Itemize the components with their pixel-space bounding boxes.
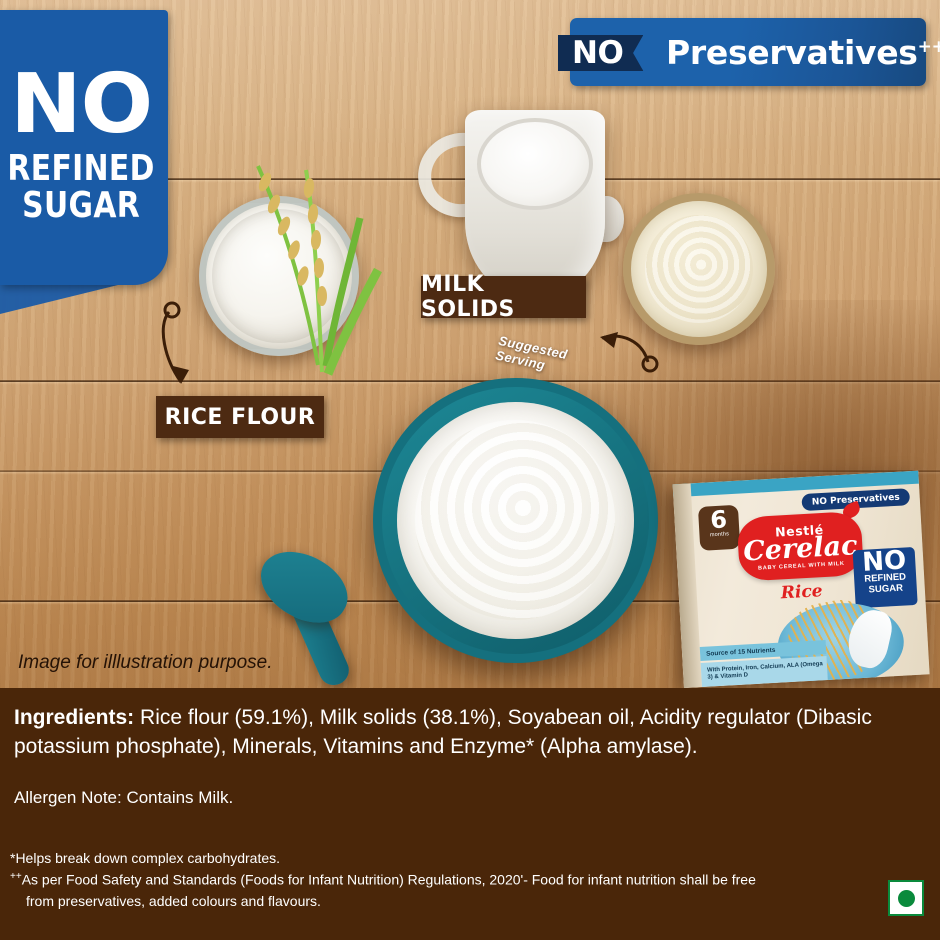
- preservatives-label: Preservatives: [666, 33, 918, 72]
- preservatives-superscript: ++: [918, 37, 940, 57]
- no-refined-sugar-badge: NO REFINED SUGAR: [0, 10, 168, 285]
- ingredients-label: Ingredients:: [14, 706, 134, 729]
- pack-age-unit: months: [699, 531, 739, 539]
- callout-milk-solids-label: MILK SOLIDS: [421, 272, 586, 322]
- ingredients-panel: Ingredients: Rice flour (59.1%), Milk so…: [0, 688, 940, 940]
- no-preservatives-banner: NO Preservatives++: [570, 18, 926, 86]
- cream-swirl-texture: [645, 215, 753, 323]
- pack-age-number: 6: [698, 507, 739, 533]
- milk-jug: [465, 110, 605, 295]
- preservatives-no-ribbon: NO: [558, 35, 643, 71]
- ingredients-text: Rice flour (59.1%), Milk solids (38.1%),…: [14, 706, 872, 758]
- footnotes-block: *Helps break down complex carbohydrates.…: [10, 848, 890, 912]
- illustration-note: Image for illlustration purpose.: [18, 652, 273, 674]
- preservatives-word: Preservatives++: [666, 33, 940, 72]
- cerelac-wordmark: Cerelac: [743, 534, 858, 565]
- footnote-plus-line2: from preservatives, added colours and fl…: [10, 891, 890, 912]
- pack-variant-name: Rice: [780, 581, 823, 603]
- product-infographic: NO REFINED SUGAR NO Preservatives++ MILK…: [0, 0, 940, 940]
- pack-no-refined-sugar-badge: NO REFINED SUGAR: [853, 547, 918, 608]
- vegetarian-mark-icon: [888, 880, 924, 916]
- footnote-plus: ++As per Food Safety and Standards (Food…: [10, 869, 890, 912]
- preservatives-no-text: NO: [572, 38, 623, 69]
- callout-rice-flour-label: RICE FLOUR: [165, 405, 316, 430]
- pack-age-badge: 6 months: [698, 505, 740, 551]
- ingredients-block: Ingredients: Rice flour (59.1%), Milk so…: [14, 704, 920, 762]
- footnote-star: *Helps break down complex carbohydrates.: [10, 848, 890, 869]
- porridge-surface: [415, 420, 615, 620]
- allergen-note: Allergen Note: Contains Milk.: [14, 788, 233, 808]
- footnote-plus-line1: As per Food Safety and Standards (Foods …: [22, 872, 756, 888]
- badge-line-refined: REFINED: [7, 150, 154, 187]
- badge-line-sugar: SUGAR: [22, 187, 140, 224]
- vegetarian-mark-dot: [898, 890, 915, 907]
- badge-line-no: NO: [10, 71, 152, 140]
- callout-rice-flour: RICE FLOUR: [156, 396, 324, 438]
- cerelac-product-pack[interactable]: NO Preservatives 6 months Nestlé Cerelac…: [673, 471, 930, 688]
- footnote-plus-marker: ++: [10, 871, 22, 882]
- pack-nosugar-no: NO: [853, 549, 916, 576]
- callout-milk-solids: MILK SOLIDS: [421, 276, 586, 318]
- cerelac-logo: Nestlé Cerelac BABY CEREAL WITH MILK: [737, 511, 864, 582]
- product-photo-area: NO REFINED SUGAR NO Preservatives++ MILK…: [0, 0, 940, 688]
- rice-flour-bowl: [199, 196, 359, 356]
